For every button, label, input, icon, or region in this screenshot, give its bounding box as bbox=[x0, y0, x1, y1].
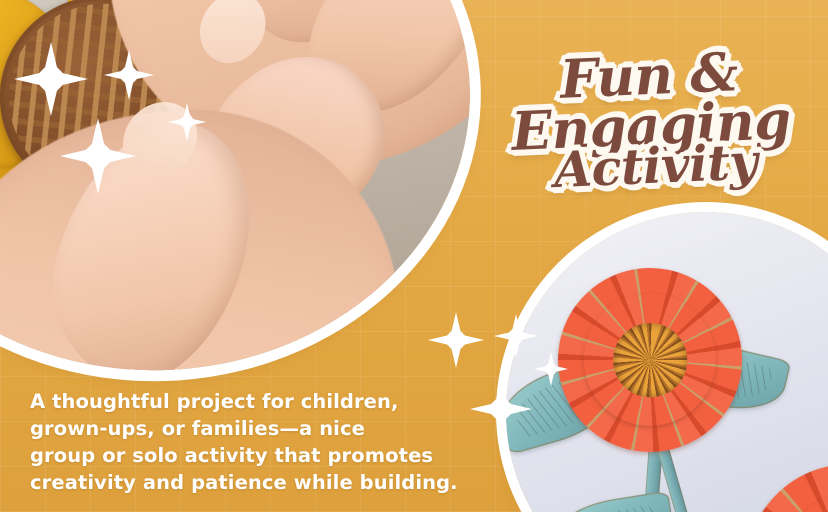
body-copy-line: A thoughtful project for children, bbox=[30, 388, 460, 415]
body-copy: A thoughtful project for children, grown… bbox=[30, 388, 460, 496]
zinnia-core bbox=[613, 323, 687, 397]
photo-red-zinnias bbox=[506, 212, 828, 512]
photo-hands-sunflower bbox=[0, 0, 488, 391]
body-copy-line: group or solo activity that promotes bbox=[30, 442, 460, 469]
zinnia-primary bbox=[558, 268, 742, 452]
body-copy-line: creativity and patience while building. bbox=[30, 469, 460, 496]
promo-banner: Fun & Engaging Activity A thoughtful pro… bbox=[0, 0, 828, 512]
body-copy-line: grown-ups, or families—a nice bbox=[30, 415, 460, 442]
